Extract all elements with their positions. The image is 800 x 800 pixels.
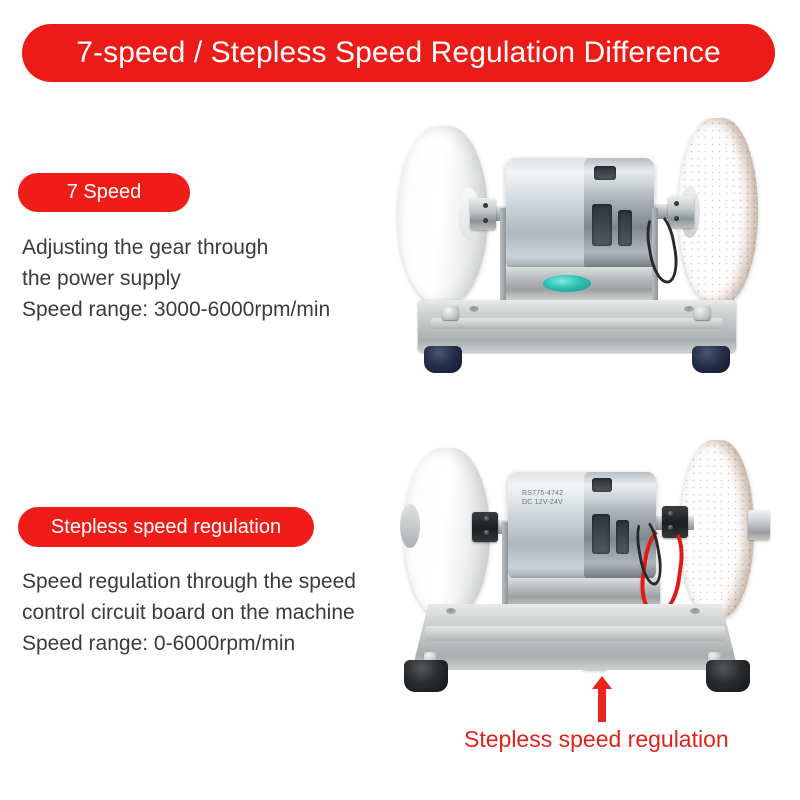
- left-shaft-coupler: [472, 512, 498, 542]
- page-title: 7-speed / Stepless Speed Regulation Diff…: [76, 36, 720, 70]
- description-line: Adjusting the gear through: [22, 232, 382, 263]
- rubber-foot: [706, 660, 750, 692]
- base-plate: [412, 604, 738, 670]
- base-screw-hole-right: [690, 608, 700, 614]
- base-bolt-left: [442, 306, 459, 320]
- motor-vent: [618, 210, 632, 246]
- product-image-stepless: RS775-4742 DC 12V-24V I O I: [390, 438, 775, 710]
- left-shaft-coupler: [470, 198, 496, 230]
- motor-vent: [616, 520, 629, 554]
- motor-vent: [592, 204, 612, 246]
- outer-hex-nut: [748, 510, 770, 540]
- description-line: the power supply: [22, 263, 382, 294]
- polishing-wheel-face: [400, 504, 420, 548]
- badge-seven-speed: 7 Speed: [18, 173, 190, 212]
- right-shaft-coupler: [668, 196, 694, 228]
- description-seven-speed: Adjusting the gear through the power sup…: [22, 232, 382, 325]
- motor: RS775-4742 DC 12V-24V: [508, 472, 656, 580]
- base-screw-hole-left: [446, 608, 456, 614]
- base-screw-hole-left: [469, 306, 479, 312]
- infographic-page: 7-speed / Stepless Speed Regulation Diff…: [0, 0, 800, 800]
- motor-label-model: RS775-4742: [522, 489, 563, 498]
- description-stepless: Speed regulation through the speed contr…: [22, 566, 412, 659]
- base-screw-hole-right: [684, 306, 694, 312]
- rubber-foot: [692, 346, 730, 373]
- badge-stepless-label: Stepless speed regulation: [51, 516, 281, 539]
- motor-label-voltage: DC 12V-24V: [522, 498, 563, 507]
- mount-leg-left: [502, 522, 508, 608]
- arrow-stem: [598, 686, 606, 722]
- description-line: Speed range: 0-6000rpm/min: [22, 628, 412, 659]
- motor-mount: [505, 578, 660, 606]
- motor-label: RS775-4742 DC 12V-24V: [522, 489, 563, 507]
- annotation-caption: Stepless speed regulation: [464, 726, 729, 753]
- motor-vent: [594, 166, 616, 180]
- motor-vent: [592, 514, 610, 554]
- annotation-arrow: [592, 676, 612, 722]
- rubber-foot: [404, 660, 448, 692]
- description-line: Speed range: 3000-6000rpm/min: [22, 294, 382, 325]
- badge-seven-speed-label: 7 Speed: [67, 181, 142, 204]
- motor: [506, 158, 654, 270]
- motor-vent: [592, 478, 612, 492]
- base-bolt-right: [694, 306, 711, 320]
- description-line: Speed regulation through the speed: [22, 566, 412, 597]
- mount-leg-left: [500, 208, 506, 304]
- badge-stepless: Stepless speed regulation: [18, 507, 314, 547]
- rubber-foot: [424, 346, 462, 373]
- header-banner: 7-speed / Stepless Speed Regulation Diff…: [22, 24, 775, 82]
- motor-sticker: [543, 275, 591, 292]
- product-image-seven-speed: I O I: [396, 112, 766, 412]
- description-line: control circuit board on the machine: [22, 597, 412, 628]
